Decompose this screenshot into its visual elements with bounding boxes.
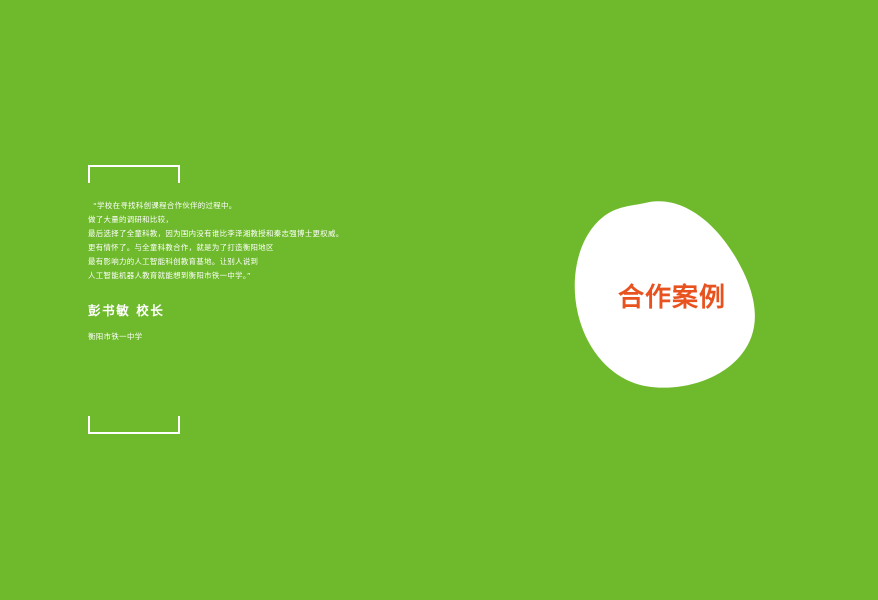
case-badge: 合作案例 bbox=[573, 200, 763, 390]
bracket-top-decoration bbox=[88, 165, 180, 183]
quote-line: 最有影响力的人工智能科创教育基地。让别人说到 bbox=[88, 255, 508, 269]
quote-block: “学校在寻找科创课程合作伙伴的过程中。 做了大量的调研和比较， 最后选择了全童科… bbox=[88, 199, 508, 283]
signature-block: 彭书敏 校长 衡阳市铁一中学 bbox=[88, 303, 388, 343]
slide-canvas: “学校在寻找科创课程合作伙伴的过程中。 做了大量的调研和比较， 最后选择了全童科… bbox=[0, 0, 878, 600]
quote-line: “学校在寻找科创课程合作伙伴的过程中。 bbox=[88, 199, 508, 213]
quote-line: 更有情怀了。与全童科教合作，就是为了打造衡阳地区 bbox=[88, 241, 508, 255]
quote-line: 人工智能机器人教育就能想到衡阳市铁一中学。” bbox=[88, 269, 508, 283]
signature-name: 彭书敏 校长 bbox=[88, 303, 388, 319]
quote-line: 最后选择了全童科教，因为国内没有谁比李泽湘教授和秦志强博士更权威。 bbox=[88, 227, 508, 241]
bracket-bottom-decoration bbox=[88, 416, 180, 434]
quote-line: 做了大量的调研和比较， bbox=[88, 213, 508, 227]
case-badge-label: 合作案例 bbox=[573, 200, 763, 390]
signature-school: 衡阳市铁一中学 bbox=[88, 330, 388, 343]
